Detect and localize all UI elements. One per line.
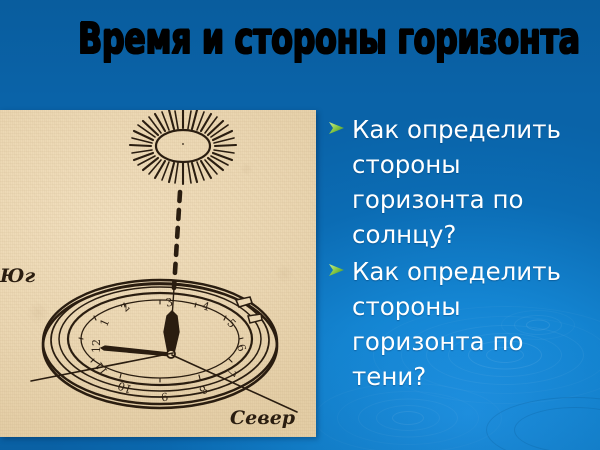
minute-hand [101, 346, 170, 356]
bullet-list: Как определить стороны горизонта по солн… [328, 112, 594, 396]
hour-hand [164, 311, 179, 353]
south-label: Юг [0, 265, 35, 287]
bullet-text: Как определить стороны горизонта по солн… [352, 112, 594, 252]
sun-icon [130, 110, 236, 184]
page-title: Время и стороны горизонта [78, 14, 522, 64]
arrow-bullet-icon [328, 112, 348, 135]
north-label: Север [230, 407, 296, 429]
list-item[interactable]: Как определить стороны горизонта по тени… [328, 254, 594, 394]
svg-text:12: 12 [90, 339, 103, 353]
svg-text:4: 4 [201, 299, 211, 313]
svg-text:6: 6 [234, 342, 249, 353]
dashed-sun-line [172, 192, 180, 318]
illustration-artwork: 12 1 2 3 4 5 6 7 8 9 10 11 [0, 110, 316, 437]
bullet-text: Как определить стороны горизонта по тени… [352, 254, 594, 394]
pocket-watch-compass-illustration: 12 1 2 3 4 5 6 7 8 9 10 11 [0, 110, 316, 437]
arrow-bullet-icon [328, 254, 348, 277]
svg-text:1: 1 [97, 317, 112, 329]
svg-text:7: 7 [224, 368, 239, 379]
slide: Время и стороны горизонта [0, 0, 600, 450]
svg-text:3: 3 [164, 295, 174, 309]
list-item[interactable]: Как определить стороны горизонта по солн… [328, 112, 594, 252]
svg-text:9: 9 [160, 390, 169, 404]
